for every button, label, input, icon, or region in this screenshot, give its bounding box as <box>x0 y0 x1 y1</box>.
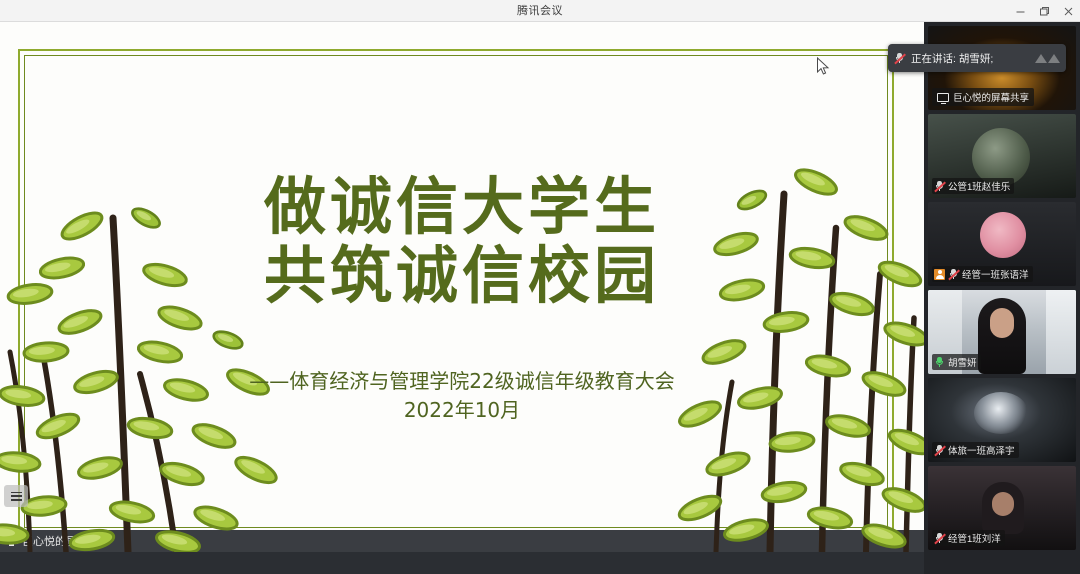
share-status-bar: 巨心悦的屏幕共享 <box>0 530 924 552</box>
participant-name: 胡雪妍 <box>948 355 977 369</box>
share-status-label: 巨心悦的屏幕共享 <box>22 533 110 549</box>
participant-name: 体旅一班高泽宇 <box>948 443 1015 457</box>
floating-menu-button[interactable] <box>4 485 28 507</box>
restore-icon <box>1039 6 1050 17</box>
slide-title-line2: 共筑诚信校园 <box>0 241 924 310</box>
share-chip-label: 巨心悦的屏幕共享 <box>953 90 1029 104</box>
tile-label: 经管1班刘洋 <box>932 530 1005 546</box>
speaking-label: 正在讲话: 胡雪妍; <box>911 51 993 66</box>
presentation-slide: 做诚信大学生 共筑诚信校园 ——体育经济与管理学院22级诚信年级教育大会 202… <box>0 22 924 552</box>
screen-share-icon <box>5 536 18 547</box>
slide-subtitle-line1: ——体育经济与管理学院22级诚信年级教育大会 <box>249 369 674 393</box>
tile-label: 体旅一班高泽宇 <box>932 442 1019 458</box>
avatar <box>934 269 945 280</box>
participant-tile-tilv-gaozeyu[interactable]: 体旅一班高泽宇 <box>928 378 1076 462</box>
mic-muted-icon <box>934 445 945 456</box>
participant-rail[interactable]: 巨心悦的屏幕共享 公管1班赵佳乐 经管一班张语洋 <box>924 22 1080 574</box>
window-controls <box>1008 0 1080 22</box>
screen-share-viewport[interactable]: 做诚信大学生 共筑诚信校园 ——体育经济与管理学院22级诚信年级教育大会 202… <box>0 22 924 552</box>
mic-muted-icon <box>934 181 945 192</box>
share-chip: 巨心悦的屏幕共享 <box>932 88 1034 106</box>
window-title: 腾讯会议 <box>0 0 1080 22</box>
mic-muted-icon <box>894 53 905 64</box>
screen-share-icon <box>937 93 949 102</box>
participant-tile-jingguan-zhangyuyang[interactable]: 经管一班张语洋 <box>928 202 1076 286</box>
mic-muted-icon <box>948 269 959 280</box>
chevron-icon[interactable] <box>1035 54 1060 63</box>
participant-name: 公管1班赵佳乐 <box>948 179 1010 193</box>
close-icon <box>1063 6 1074 17</box>
participant-tile-huxueyan[interactable]: 胡雪妍 <box>928 290 1076 374</box>
participant-tile-gongguan-zhaojiale[interactable]: 公管1班赵佳乐 <box>928 114 1076 198</box>
restore-button[interactable] <box>1032 0 1056 22</box>
mic-active-icon <box>934 357 945 368</box>
mic-muted-icon <box>934 533 945 544</box>
slide-subtitle-line2: 2022年10月 <box>0 396 924 425</box>
close-button[interactable] <box>1056 0 1080 22</box>
minimize-button[interactable] <box>1008 0 1032 22</box>
tencent-meeting-window: 腾讯会议 <box>0 0 1080 574</box>
participant-name: 经管一班张语洋 <box>962 267 1029 281</box>
slide-title: 做诚信大学生 共筑诚信校园 <box>0 172 924 311</box>
speaking-toast[interactable]: 正在讲话: 胡雪妍; <box>888 44 1066 72</box>
menu-icon <box>11 492 22 501</box>
minimize-icon <box>1015 6 1026 17</box>
slide-title-line1: 做诚信大学生 <box>264 170 660 243</box>
tile-label: 经管一班张语洋 <box>932 266 1033 282</box>
mouse-cursor <box>816 57 830 77</box>
participant-tile-jingguan-liuyang[interactable]: 经管1班刘洋 <box>928 466 1076 550</box>
slide-subtitle: ——体育经济与管理学院22级诚信年级教育大会 2022年10月 <box>0 367 924 425</box>
tile-label: 胡雪妍 <box>932 354 981 370</box>
title-bar[interactable]: 腾讯会议 <box>0 0 1080 22</box>
tile-label: 公管1班赵佳乐 <box>932 178 1014 194</box>
participant-name: 经管1班刘洋 <box>948 531 1001 545</box>
